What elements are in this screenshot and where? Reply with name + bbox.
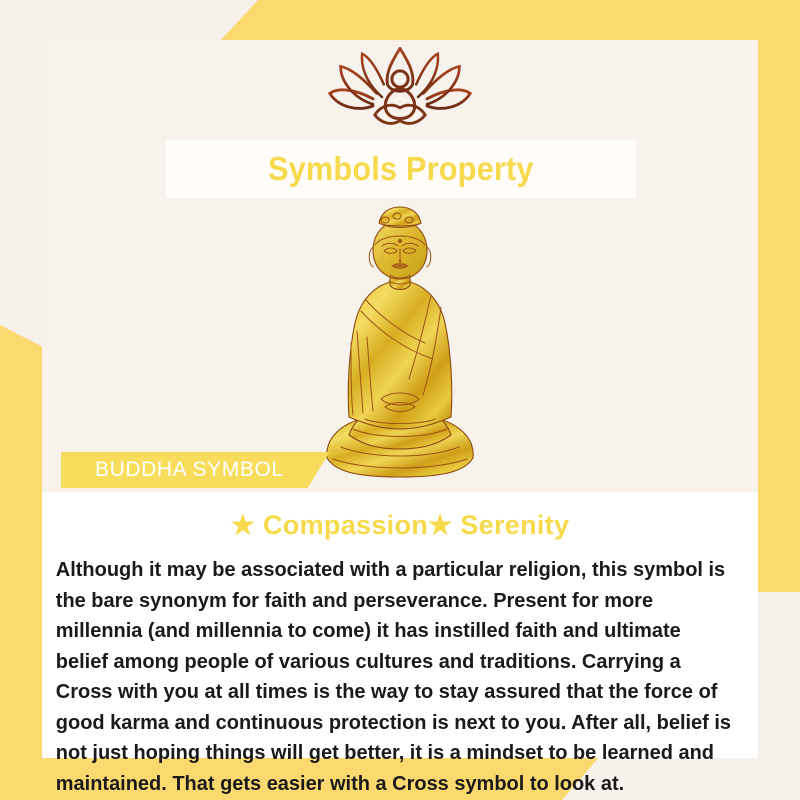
frame-accent-right bbox=[756, 0, 800, 592]
poster-canvas: BUDDHA STONES Symbols Property bbox=[0, 0, 800, 800]
category-tag: BUDDHA SYMBOL bbox=[61, 452, 330, 488]
poster-inner-page: BUDDHA STONES Symbols Property bbox=[42, 40, 758, 758]
content-panel: ★ Compassion★ Serenity Although it may b… bbox=[42, 492, 758, 758]
content-subtitle: ★ Compassion★ Serenity bbox=[42, 492, 758, 541]
frame-accent-top bbox=[220, 0, 800, 41]
golden-seated-buddha-statue bbox=[305, 203, 495, 488]
hero-image-container bbox=[42, 203, 758, 488]
page-title: Symbols Property bbox=[268, 150, 534, 188]
lotus-meditation-figure-icon bbox=[310, 42, 490, 134]
frame-accent-left bbox=[0, 325, 43, 800]
category-tag-label: BUDDHA SYMBOL bbox=[95, 458, 284, 482]
title-banner: Symbols Property bbox=[166, 140, 636, 198]
content-paragraph: Although it may be associated with a par… bbox=[42, 541, 747, 799]
